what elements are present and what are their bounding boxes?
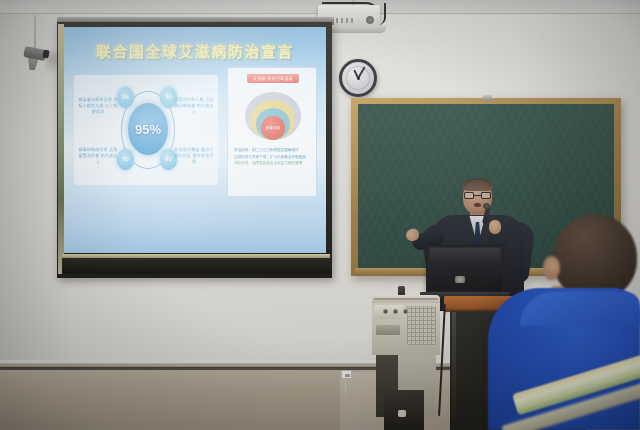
hub-node-top-left: 95 bbox=[117, 87, 134, 108]
laptop-logo bbox=[455, 276, 465, 283]
presenter-mouth bbox=[474, 203, 481, 207]
clock-center-pin bbox=[357, 77, 360, 80]
slide-left-panel: 95 95 95 95 95% 感染者诊断率达到 目标人群的九成 以上知晓状况 … bbox=[74, 75, 218, 185]
chart-header-badge: 艾滋病 防治目标层级 bbox=[247, 74, 299, 83]
presenter-hand-right bbox=[489, 220, 501, 234]
projector-lens-icon bbox=[366, 16, 374, 24]
screen-bottom-bar bbox=[62, 258, 330, 274]
slide-title: 联合国全球艾滋病防治宣言 bbox=[64, 41, 326, 62]
podium-highlight bbox=[452, 312, 456, 429]
hub-label-bottom-right: 防治宣传覆盖 重点人群与社区 提升综合干预 bbox=[173, 147, 215, 165]
outlet-cord bbox=[345, 379, 346, 394]
lecture-hall-photo: 联合国全球艾滋病防治宣言 95 95 95 95 95% 感染者诊断率达到 目标… bbox=[0, 0, 640, 430]
eyeglasses-icon bbox=[464, 192, 491, 199]
cabinet-knob-1 bbox=[383, 309, 388, 314]
av-cabinet-control-panel bbox=[374, 305, 404, 319]
cabinet-slot bbox=[376, 325, 400, 335]
chart-note-line-2: 消除歧视，保障感染者合法权益与随访管理 bbox=[234, 161, 312, 166]
hub-label-bottom-left: 病毒抑制成功率 达到接受治疗者 的九成以上 bbox=[77, 147, 119, 165]
blackboard-clip bbox=[483, 95, 492, 101]
chart-ring-core: 病毒抑制 bbox=[261, 116, 285, 140]
chart-note: 防治目标：到二〇三〇年终结艾滋病流行 加强检测与早期干预，扩大抗病毒治疗覆盖面 … bbox=[234, 148, 312, 166]
wall-outlet bbox=[341, 370, 352, 379]
av-cabinet-top-stripe bbox=[374, 298, 438, 300]
floor-equipment-label bbox=[398, 410, 406, 417]
slide-right-panel: 艾滋病 防治目标层级 全人群 高危人群 感染者 病毒抑制 防治目标：到二〇三〇年… bbox=[227, 67, 317, 197]
projected-slide: 联合国全球艾滋病防治宣言 95 95 95 95 95% 感染者诊断率达到 目标… bbox=[64, 27, 326, 253]
microphone-head-icon bbox=[483, 203, 490, 209]
attendee-ear bbox=[543, 256, 560, 280]
hub-node-bottom-left: 95 bbox=[117, 149, 134, 170]
hub-center-circle: 95% bbox=[128, 103, 168, 155]
hub-label-top-left: 感染者诊断率达到 目标人群的九成 以上知晓状况 bbox=[77, 97, 119, 115]
chart-ring-core-label: 病毒抑制 bbox=[261, 126, 285, 131]
chart-note-heading: 防治目标：到二〇三〇年终结艾滋病流行 bbox=[234, 148, 312, 153]
speaker-grille-icon bbox=[407, 306, 436, 345]
cabinet-knob-2 bbox=[393, 309, 398, 314]
hub-label-top-right: 接受治疗的人数 占已确诊感染者 的九成以上 bbox=[173, 97, 215, 115]
laptop-screen-glare bbox=[430, 248, 500, 264]
hub-center-value: 95% bbox=[135, 122, 161, 137]
attendee-jacket-collar bbox=[520, 292, 640, 326]
wall-clock-icon bbox=[339, 59, 377, 97]
presenter-hair bbox=[462, 178, 493, 191]
camera-pole bbox=[34, 15, 36, 51]
